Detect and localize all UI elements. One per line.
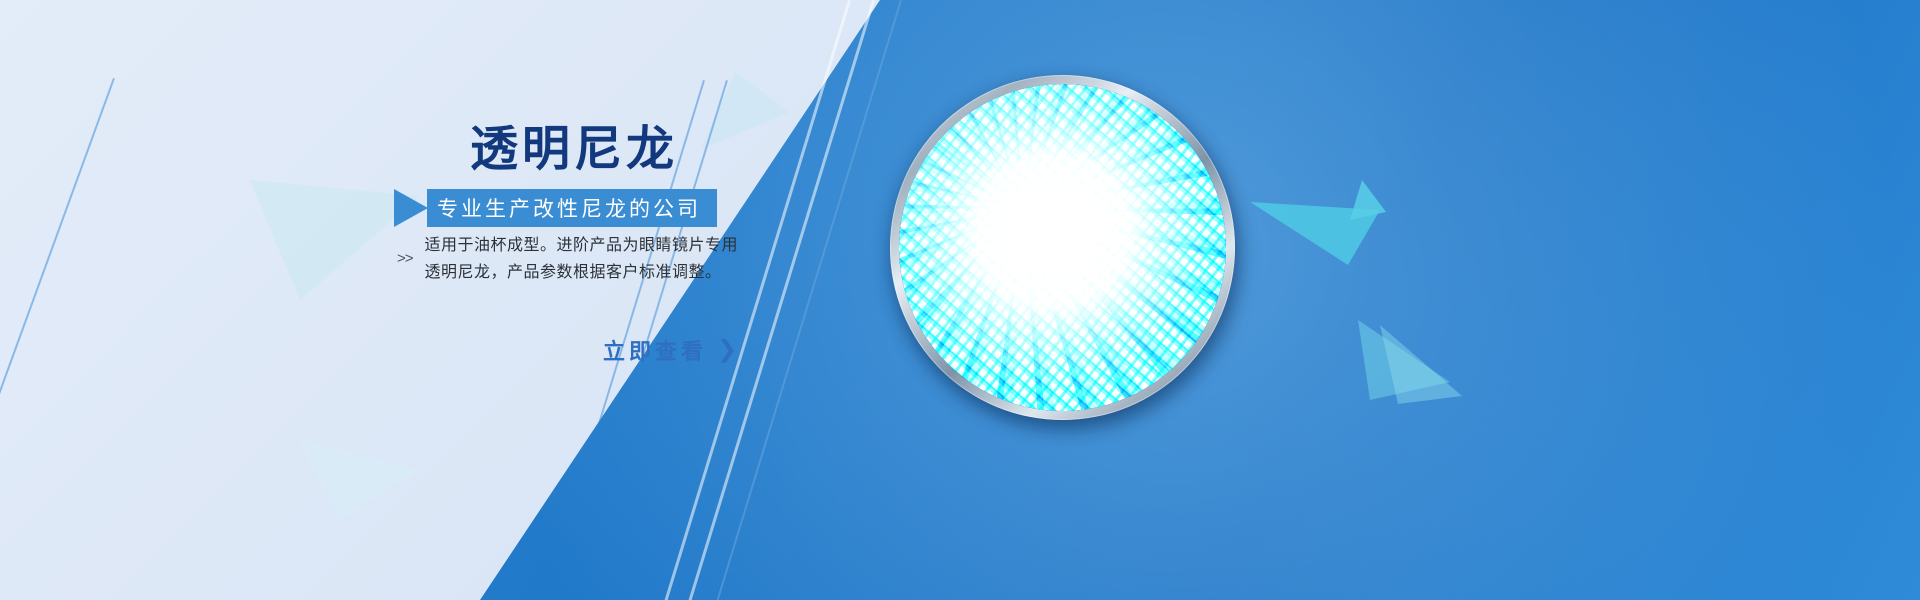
chevron-right-icon: ❯ [717, 338, 737, 362]
tagline-label: 专业生产改性尼龙的公司 [437, 193, 701, 223]
banner-title: 透明尼龙 [470, 125, 678, 173]
view-now-button[interactable]: 立即查看 ❯ [603, 334, 737, 366]
double-chevron-icon: >> [397, 250, 413, 267]
banner-content: 透明尼龙 专业生产改性尼龙的公司 >> 适用于油杯成型。进阶产品为眼睛镜片专用 … [0, 0, 1920, 600]
banner-description-block: >> 适用于油杯成型。进阶产品为眼睛镜片专用 透明尼龙，产品参数根据客户标准调整… [397, 231, 738, 285]
tagline-chevron-icon [394, 189, 428, 227]
banner-description: 适用于油杯成型。进阶产品为眼睛镜片专用 透明尼龙，产品参数根据客户标准调整。 [425, 231, 739, 285]
banner-tagline: 专业生产改性尼龙的公司 [394, 189, 717, 227]
tagline-bar: 专业生产改性尼龙的公司 [427, 189, 717, 227]
view-now-label: 立即查看 [603, 334, 707, 366]
product-hero-banner: 透明尼龙 专业生产改性尼龙的公司 >> 适用于油杯成型。进阶产品为眼睛镜片专用 … [0, 0, 1920, 600]
